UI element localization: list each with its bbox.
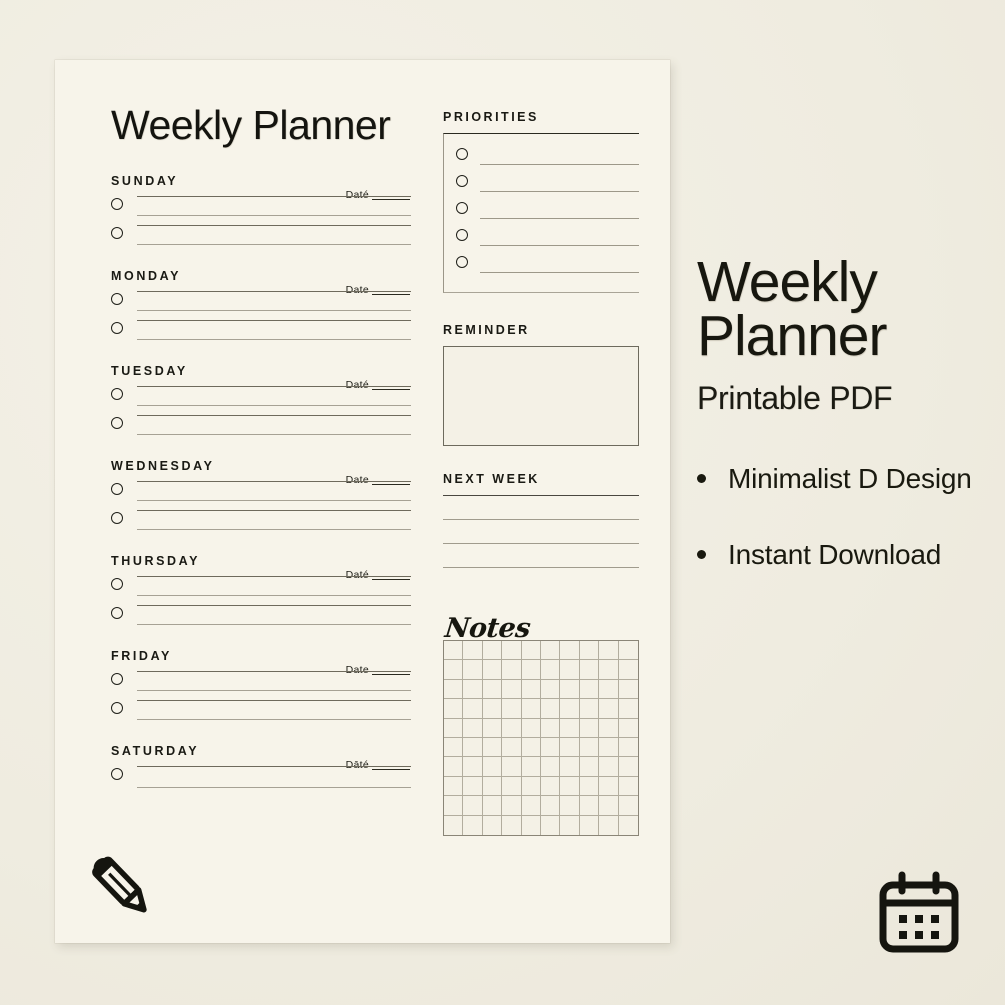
notes-section: Notes — [443, 615, 639, 836]
priority-row[interactable] — [456, 200, 639, 227]
notes-grid-cell[interactable] — [522, 719, 541, 738]
notes-grid-cell[interactable] — [580, 738, 599, 757]
notes-grid-cell[interactable] — [502, 660, 521, 679]
notes-grid-cell[interactable] — [619, 757, 638, 776]
task-row[interactable] — [111, 670, 411, 699]
notes-grid-cell[interactable] — [619, 796, 638, 815]
notes-grid-cell[interactable] — [560, 660, 579, 679]
promo-title: Weekly Planner — [697, 255, 987, 363]
promo-subtitle: Printable PDF — [697, 380, 987, 417]
day-block-thursday: THURSDAY Daté — [111, 554, 411, 633]
notes-grid-cell[interactable] — [560, 777, 579, 796]
promo-feature-text: Instant Download — [728, 535, 987, 575]
checkbox-circle-icon[interactable] — [456, 148, 468, 160]
priorities-section: PRIORITIES — [443, 110, 639, 293]
notes-grid-cell[interactable] — [463, 719, 482, 738]
notes-grid-cell[interactable] — [541, 699, 560, 718]
reminder-heading: REMINDER — [443, 323, 639, 337]
page-title: Weekly Planner — [111, 105, 411, 146]
list-item: Minimalist D Design — [697, 459, 987, 499]
next-week-line[interactable] — [443, 495, 639, 519]
notes-grid-cell[interactable] — [483, 719, 502, 738]
notes-grid-cell[interactable] — [619, 641, 638, 660]
task-row[interactable] — [111, 765, 411, 794]
notes-grid-cell[interactable] — [599, 816, 618, 835]
notes-grid-cell[interactable] — [541, 719, 560, 738]
notes-grid-cell[interactable] — [599, 680, 618, 699]
day-block-wednesday: WEDNESDAY Date — [111, 459, 411, 538]
notes-grid-cell[interactable] — [560, 719, 579, 738]
notes-grid-cell[interactable] — [483, 777, 502, 796]
priority-row[interactable] — [456, 146, 639, 173]
notes-grid-cell[interactable] — [483, 660, 502, 679]
task-row[interactable] — [111, 414, 411, 443]
checkbox-circle-icon[interactable] — [111, 607, 123, 619]
task-write-line[interactable] — [137, 414, 411, 443]
promo-title-line2: Planner — [697, 309, 987, 363]
notes-grid-cell[interactable] — [522, 660, 541, 679]
notes-grid-cell[interactable] — [444, 680, 463, 699]
day-block-tuesday: TUESDAY Daté — [111, 364, 411, 443]
notes-grid-cell[interactable] — [502, 816, 521, 835]
priority-write-line[interactable] — [480, 200, 639, 227]
notes-grid-cell[interactable] — [502, 738, 521, 757]
notes-grid-cell[interactable] — [444, 816, 463, 835]
checkbox-circle-icon[interactable] — [111, 768, 123, 780]
notes-grid-cell[interactable] — [541, 738, 560, 757]
notes-grid-cell[interactable] — [541, 660, 560, 679]
checkbox-circle-icon[interactable] — [111, 417, 123, 429]
notes-grid-cell[interactable] — [599, 777, 618, 796]
notes-grid[interactable] — [443, 640, 639, 836]
task-row[interactable] — [111, 319, 411, 348]
notes-grid-cell[interactable] — [580, 816, 599, 835]
task-write-line[interactable] — [137, 480, 411, 509]
task-row[interactable] — [111, 385, 411, 414]
notes-grid-cell[interactable] — [463, 816, 482, 835]
next-week-line[interactable] — [443, 543, 639, 567]
notes-grid-cell[interactable] — [463, 738, 482, 757]
task-write-line[interactable] — [137, 385, 411, 414]
bullet-dot-icon — [697, 550, 706, 559]
checkbox-circle-icon[interactable] — [111, 702, 123, 714]
notes-grid-cell[interactable] — [522, 757, 541, 776]
task-row[interactable] — [111, 290, 411, 319]
notes-grid-cell[interactable] — [463, 660, 482, 679]
notes-grid-cell[interactable] — [463, 777, 482, 796]
bullet-dot-icon — [697, 474, 706, 483]
notes-heading: Notes — [444, 615, 641, 642]
task-row[interactable] — [111, 480, 411, 509]
notes-grid-cell[interactable] — [580, 641, 599, 660]
calendar-icon — [875, 870, 963, 958]
reminder-textbox[interactable] — [443, 346, 639, 446]
notes-grid-cell[interactable] — [580, 719, 599, 738]
notes-grid-cell[interactable] — [463, 699, 482, 718]
task-write-line[interactable] — [137, 604, 411, 633]
notes-grid-cell[interactable] — [444, 719, 463, 738]
planner-right-column: PRIORITIES — [443, 110, 639, 836]
notes-grid-cell[interactable] — [483, 680, 502, 699]
notes-grid-cell[interactable] — [599, 660, 618, 679]
promo-panel: Weekly Planner Printable PDF Minimalist … — [697, 255, 987, 611]
planner-sheet: Weekly Planner SUNDAY Daté — [55, 60, 670, 943]
notes-grid-cell[interactable] — [580, 796, 599, 815]
reminder-section: REMINDER — [443, 323, 639, 446]
notes-grid-cell[interactable] — [502, 757, 521, 776]
checkbox-circle-icon[interactable] — [456, 175, 468, 187]
checkbox-circle-icon[interactable] — [111, 512, 123, 524]
notes-grid-cell[interactable] — [463, 757, 482, 776]
notes-grid-cell[interactable] — [444, 796, 463, 815]
notes-grid-cell[interactable] — [580, 777, 599, 796]
next-week-line[interactable] — [443, 567, 639, 591]
task-row[interactable] — [111, 224, 411, 253]
notes-grid-cell[interactable] — [560, 641, 579, 660]
priorities-heading: PRIORITIES — [443, 110, 639, 124]
notes-grid-cell[interactable] — [599, 738, 618, 757]
checkbox-circle-icon[interactable] — [111, 293, 123, 305]
checkbox-circle-icon[interactable] — [111, 322, 123, 334]
notes-grid-cell[interactable] — [502, 796, 521, 815]
notes-grid-cell[interactable] — [560, 699, 579, 718]
notes-grid-cell[interactable] — [483, 816, 502, 835]
notes-grid-cell[interactable] — [502, 680, 521, 699]
task-write-line[interactable] — [137, 319, 411, 348]
promo-feature-list: Minimalist D Design Instant Download — [697, 459, 987, 575]
list-item: Instant Download — [697, 535, 987, 575]
notes-grid-cell[interactable] — [522, 777, 541, 796]
task-write-line[interactable] — [137, 699, 411, 728]
next-week-heading: NEXT WEEK — [443, 472, 639, 486]
day-block-saturday: SATURDAY Dāté — [111, 744, 411, 794]
notes-grid-cell[interactable] — [560, 757, 579, 776]
notes-grid-cell[interactable] — [560, 738, 579, 757]
notes-grid-cell[interactable] — [619, 719, 638, 738]
day-label-sunday: SUNDAY — [111, 174, 411, 188]
notes-grid-cell[interactable] — [619, 777, 638, 796]
checkbox-circle-icon[interactable] — [111, 227, 123, 239]
day-block-friday: FRIDAY Date — [111, 649, 411, 728]
priority-row[interactable] — [456, 227, 639, 254]
notes-grid-cell[interactable] — [444, 699, 463, 718]
priority-write-line[interactable] — [480, 146, 639, 173]
day-label-friday: FRIDAY — [111, 649, 411, 663]
checkbox-circle-icon[interactable] — [111, 483, 123, 495]
notes-grid-cell[interactable] — [541, 757, 560, 776]
notes-grid-cell[interactable] — [502, 699, 521, 718]
day-block-sunday: SUNDAY Daté — [111, 174, 411, 253]
task-row[interactable] — [111, 604, 411, 633]
notes-grid-cell[interactable] — [502, 719, 521, 738]
checkbox-circle-icon[interactable] — [456, 256, 468, 268]
notes-grid-cell[interactable] — [463, 796, 482, 815]
task-write-line[interactable] — [137, 290, 411, 319]
notes-grid-cell[interactable] — [483, 796, 502, 815]
priorities-box — [443, 133, 639, 293]
priority-row[interactable] — [456, 254, 639, 281]
notes-grid-cell[interactable] — [580, 680, 599, 699]
notes-grid-cell[interactable] — [541, 777, 560, 796]
notes-grid-cell[interactable] — [541, 641, 560, 660]
checkbox-circle-icon[interactable] — [111, 673, 123, 685]
pencil-icon — [80, 847, 162, 925]
notes-grid-cell[interactable] — [541, 680, 560, 699]
priority-write-line[interactable] — [480, 227, 639, 254]
checkbox-circle-icon[interactable] — [111, 578, 123, 590]
checkbox-circle-icon[interactable] — [111, 388, 123, 400]
notes-grid-cell[interactable] — [522, 796, 541, 815]
notes-grid-cell[interactable] — [599, 641, 618, 660]
notes-grid-cell[interactable] — [444, 777, 463, 796]
task-write-line[interactable] — [137, 224, 411, 253]
priority-row[interactable] — [456, 173, 639, 200]
task-write-line[interactable] — [137, 195, 411, 224]
task-row[interactable] — [111, 195, 411, 224]
notes-grid-cell[interactable] — [463, 680, 482, 699]
notes-grid-cell[interactable] — [619, 660, 638, 679]
notes-grid-cell[interactable] — [444, 738, 463, 757]
task-write-line[interactable] — [137, 575, 411, 604]
notes-grid-cell[interactable] — [599, 796, 618, 815]
day-label-wednesday: WEDNESDAY — [111, 459, 411, 473]
notes-grid-cell[interactable] — [522, 816, 541, 835]
notes-grid-cell[interactable] — [483, 738, 502, 757]
day-label-monday: MONDAY — [111, 269, 411, 283]
day-label-saturday: SATURDAY — [111, 744, 411, 758]
notes-grid-cell[interactable] — [560, 680, 579, 699]
day-block-monday: MONDAY Date — [111, 269, 411, 348]
notes-grid-cell[interactable] — [560, 816, 579, 835]
promo-feature-text: Minimalist D Design — [728, 459, 987, 499]
next-week-section: NEXT WEEK — [443, 472, 639, 591]
notes-grid-cell[interactable] — [599, 757, 618, 776]
notes-grid-cell[interactable] — [522, 680, 541, 699]
next-week-line[interactable] — [443, 519, 639, 543]
notes-grid-cell[interactable] — [599, 699, 618, 718]
notes-grid-cell[interactable] — [444, 660, 463, 679]
notes-grid-cell[interactable] — [483, 699, 502, 718]
notes-grid-cell[interactable] — [619, 738, 638, 757]
notes-grid-cell[interactable] — [444, 757, 463, 776]
notes-grid-cell[interactable] — [522, 738, 541, 757]
checkbox-circle-icon[interactable] — [456, 202, 468, 214]
task-write-line[interactable] — [137, 765, 411, 794]
task-write-line[interactable] — [137, 670, 411, 699]
notes-grid-cell[interactable] — [541, 816, 560, 835]
checkbox-circle-icon[interactable] — [111, 198, 123, 210]
notes-grid-cell[interactable] — [502, 777, 521, 796]
task-row[interactable] — [111, 699, 411, 728]
priority-write-line[interactable] — [480, 173, 639, 200]
priority-write-line[interactable] — [480, 254, 639, 281]
task-row[interactable] — [111, 509, 411, 538]
day-label-tuesday: TUESDAY — [111, 364, 411, 378]
notes-grid-cell[interactable] — [580, 660, 599, 679]
notes-grid-cell[interactable] — [541, 796, 560, 815]
task-row[interactable] — [111, 575, 411, 604]
task-write-line[interactable] — [137, 509, 411, 538]
notes-grid-cell[interactable] — [580, 699, 599, 718]
notes-grid-cell[interactable] — [560, 796, 579, 815]
day-label-thursday: THURSDAY — [111, 554, 411, 568]
notes-grid-cell[interactable] — [619, 699, 638, 718]
notes-grid-cell[interactable] — [619, 680, 638, 699]
planner-left-column: Weekly Planner SUNDAY Daté — [111, 105, 411, 810]
notes-grid-cell[interactable] — [599, 719, 618, 738]
notes-grid-cell[interactable] — [522, 699, 541, 718]
checkbox-circle-icon[interactable] — [456, 229, 468, 241]
notes-grid-cell[interactable] — [580, 757, 599, 776]
notes-grid-cell[interactable] — [619, 816, 638, 835]
notes-grid-cell[interactable] — [483, 757, 502, 776]
